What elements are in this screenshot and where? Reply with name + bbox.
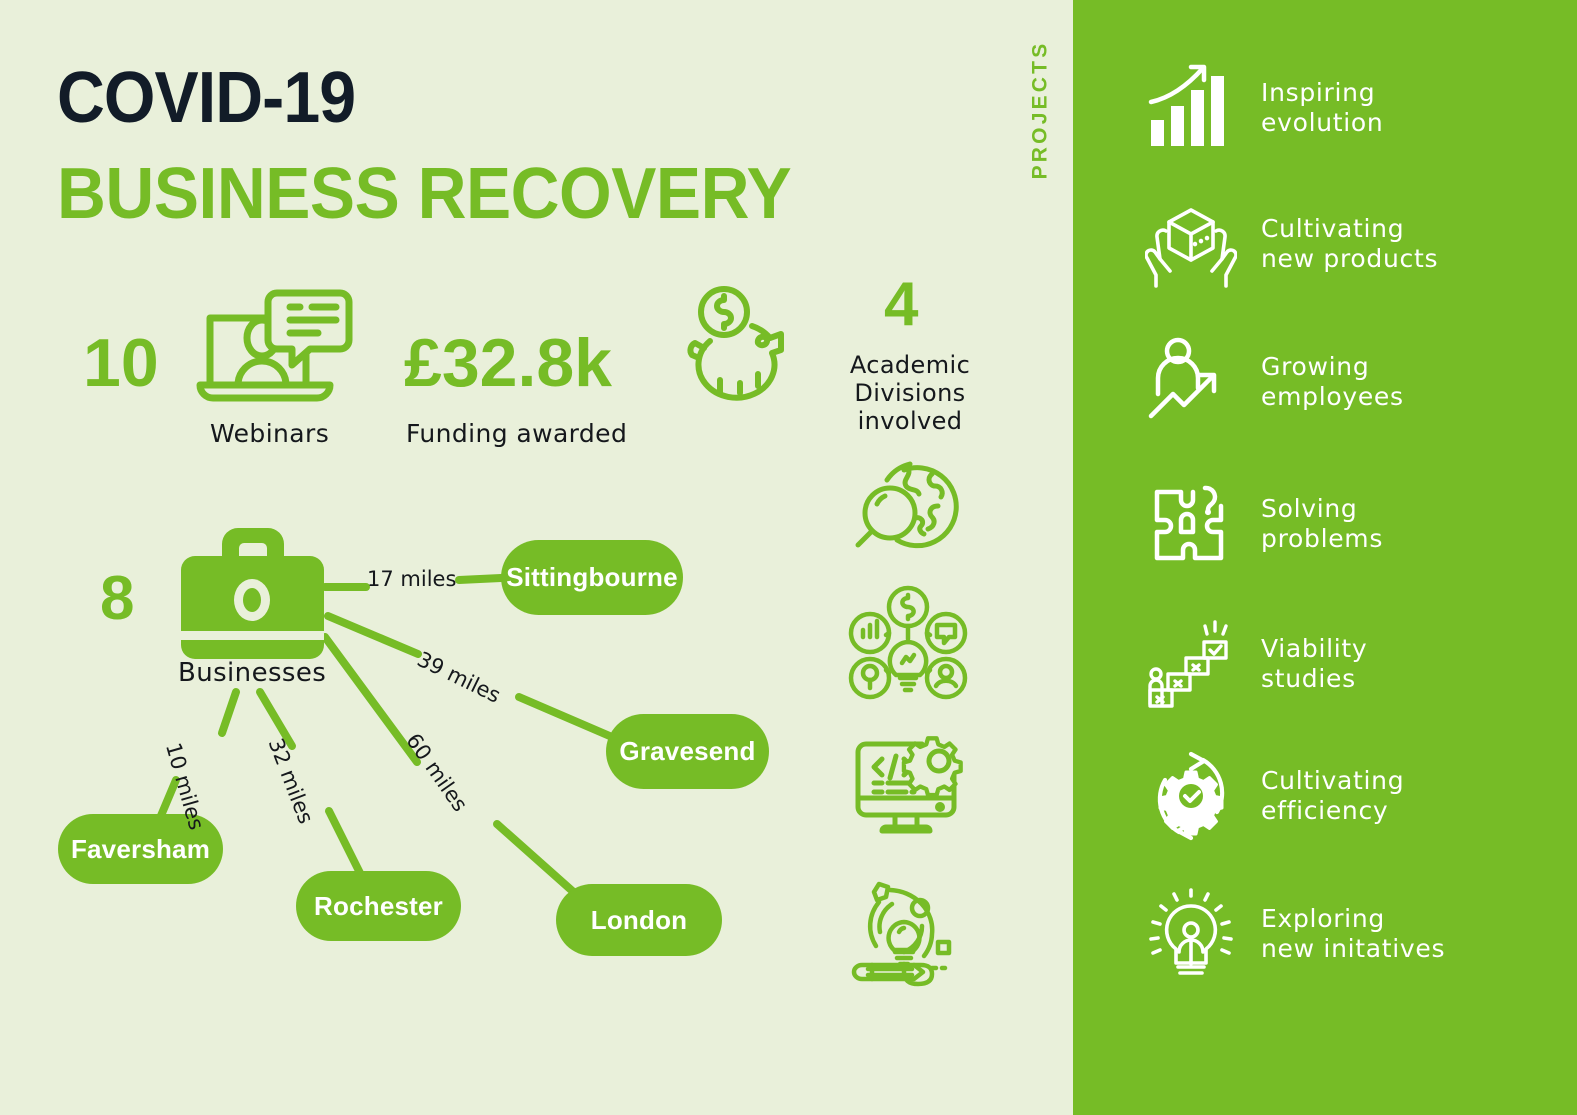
globe-magnifier-icon <box>852 458 967 553</box>
project-item-label: Solving problems <box>1261 494 1383 555</box>
distance-label-sittingbourne: 17 miles <box>367 567 456 591</box>
edge-faversham-a <box>222 692 236 733</box>
node-rochester[interactable]: Rochester <box>296 871 461 941</box>
funding-label: Funding awarded <box>406 419 627 448</box>
idea-network-icon <box>848 585 968 700</box>
divisions-label: Academic Divisions involved <box>840 352 980 435</box>
briefcase-icon <box>181 528 324 659</box>
projects-section-label-text: PROJECTS <box>1028 41 1052 180</box>
node-sittingbourne[interactable]: Sittingbourne <box>501 540 683 615</box>
project-item-label: Exploring new initatives <box>1261 904 1445 965</box>
edge-london-b <box>497 824 578 896</box>
lightbulb-person-icon <box>1145 888 1237 980</box>
page-title-line1: COVID-19 <box>57 62 355 134</box>
puzzle-question-icon <box>1145 478 1237 570</box>
hands-box-icon <box>1145 198 1237 290</box>
businesses-value: 8 <box>100 568 134 630</box>
edge-sittingbourne-b <box>459 578 501 580</box>
webinar-laptop-icon <box>196 285 356 415</box>
bar-chart-growth-icon <box>1145 62 1237 154</box>
webinars-label: Webinars <box>210 419 329 448</box>
webinars-value: 10 <box>83 329 159 397</box>
project-item-solving-problems[interactable]: Solving problems <box>1145 478 1565 570</box>
project-item-label: Inspiring evolution <box>1261 78 1383 139</box>
businesses-label: Businesses <box>178 658 326 688</box>
project-item-inspiring-evolution[interactable]: Inspiring evolution <box>1145 62 1565 154</box>
node-gravesend[interactable]: Gravesend <box>606 714 769 789</box>
project-item-label: Cultivating new products <box>1261 214 1438 275</box>
code-gear-monitor-icon <box>848 730 968 835</box>
edge-gravesend-a <box>328 616 418 654</box>
gear-cycle-icon <box>1145 750 1237 842</box>
funding-value: £32.8k <box>404 329 612 397</box>
project-item-exploring-new-initatives[interactable]: Exploring new initatives <box>1145 888 1565 980</box>
project-item-growing-employees[interactable]: Growing employees <box>1145 336 1565 428</box>
creative-lightbulb-pencil-icon <box>846 872 971 992</box>
node-london[interactable]: London <box>556 884 722 956</box>
page-title-line2: BUSINESS RECOVERY <box>57 158 791 230</box>
project-item-cultivating-efficiency[interactable]: Cultivating efficiency <box>1145 750 1565 842</box>
divisions-value: 4 <box>884 274 918 336</box>
projects-section-label: PROJECTS <box>1010 0 1070 220</box>
project-item-label: Growing employees <box>1261 352 1404 413</box>
person-growth-arrow-icon <box>1145 336 1237 428</box>
project-item-cultivating-new-products[interactable]: Cultivating new products <box>1145 198 1565 290</box>
project-item-viability-studies[interactable]: Viability studies <box>1145 618 1565 710</box>
edge-rochester-b <box>329 811 361 875</box>
stairs-checklist-icon <box>1145 618 1237 710</box>
infographic-page: COVID-19 BUSINESS RECOVERY 10 Webinars £… <box>0 0 1577 1115</box>
project-item-label: Viability studies <box>1261 634 1367 695</box>
edge-gravesend-b <box>519 697 612 737</box>
project-item-label: Cultivating efficiency <box>1261 766 1404 827</box>
piggy-bank-icon <box>674 286 799 406</box>
